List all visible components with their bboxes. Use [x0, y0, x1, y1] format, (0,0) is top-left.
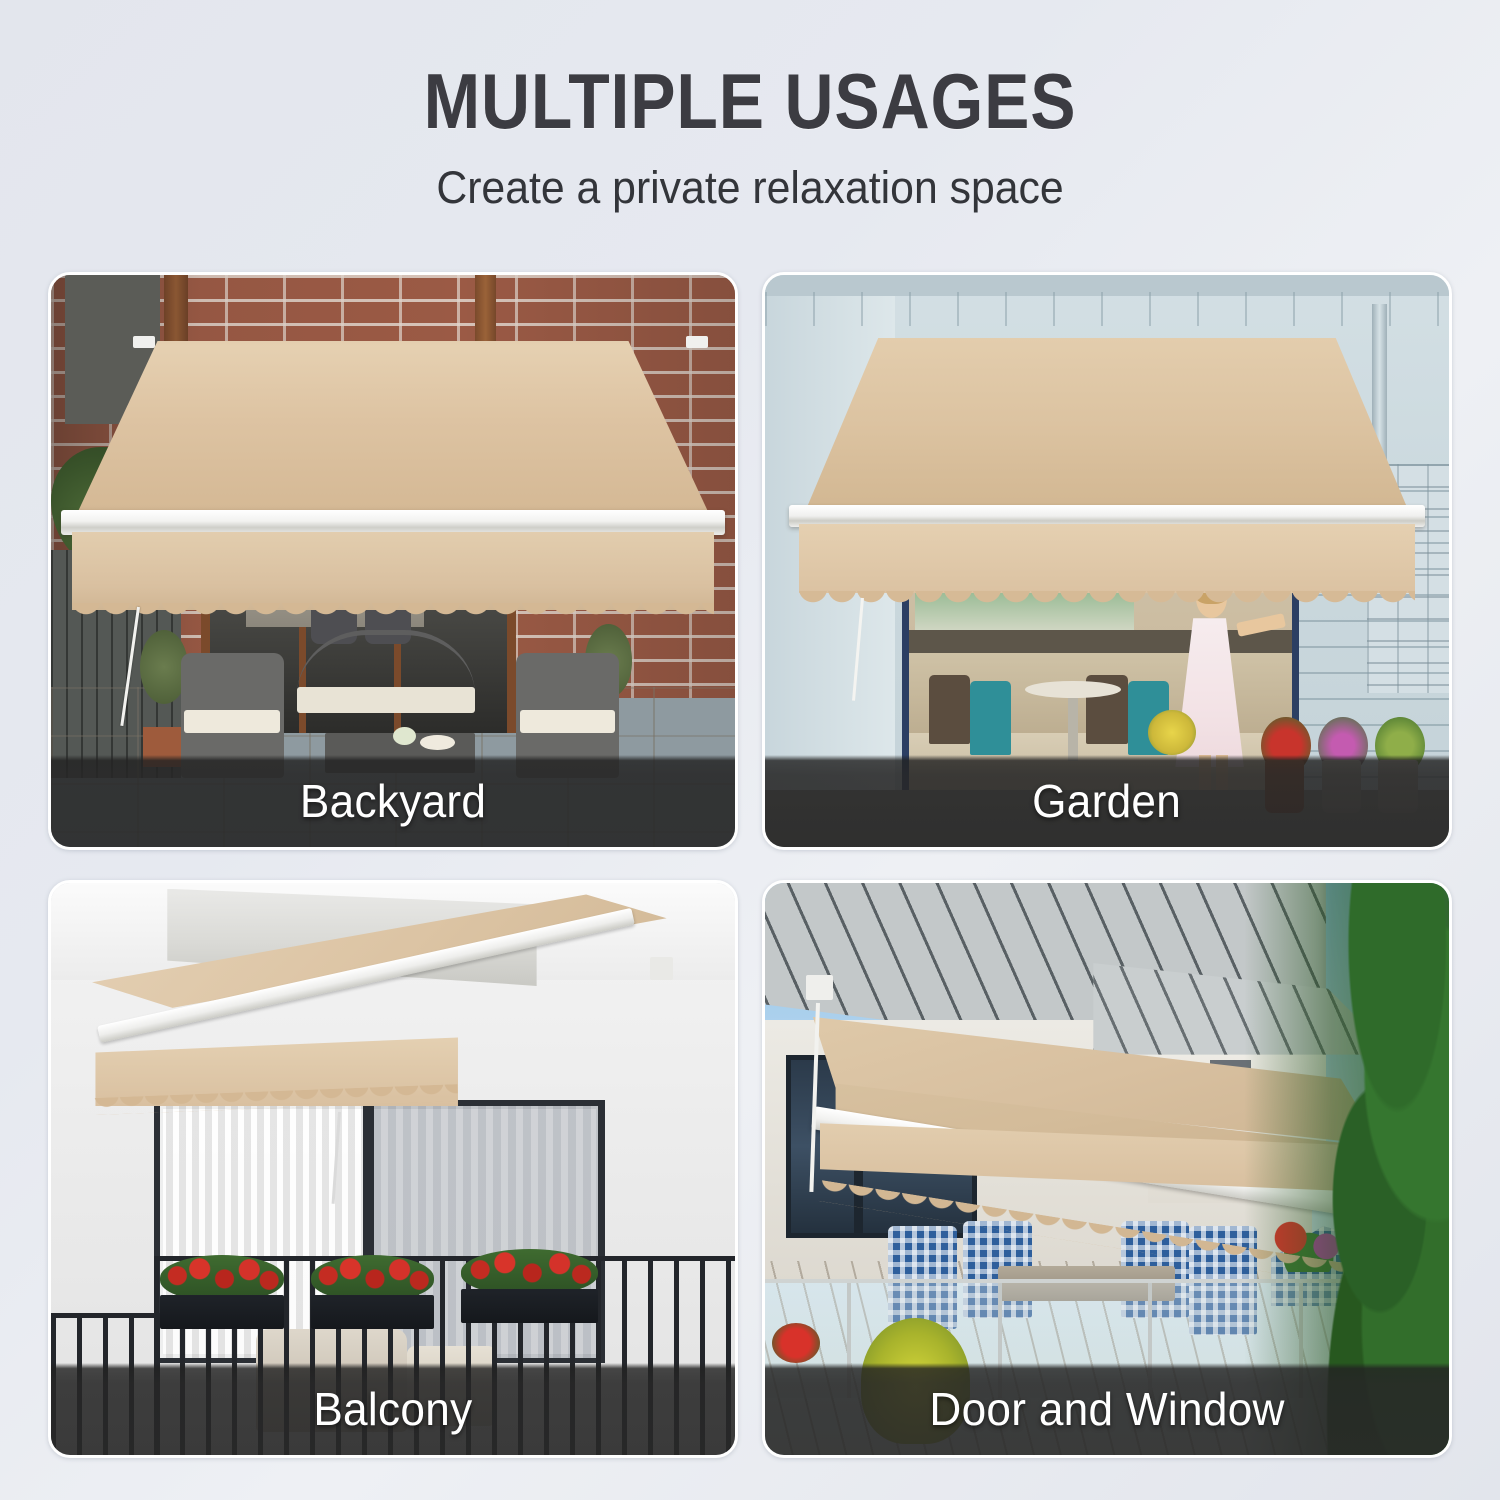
page-subtitle: Create a private relaxation space — [38, 140, 1463, 214]
usage-tile-grid: Backyard — [48, 272, 1452, 1458]
garden-scene-image — [765, 275, 1449, 847]
infographic-page: MULTIPLE USAGES Create a private relaxat… — [0, 0, 1500, 1500]
usage-tile-garden[interactable]: Garden — [762, 272, 1452, 850]
header: MULTIPLE USAGES Create a private relaxat… — [0, 0, 1500, 262]
usage-tile-backyard[interactable]: Backyard — [48, 272, 738, 850]
balcony-scene-image — [51, 883, 735, 1455]
usage-tile-balcony[interactable]: Balcony — [48, 880, 738, 1458]
backyard-scene-image — [51, 275, 735, 847]
usage-tile-door-and-window[interactable]: Door and Window — [762, 880, 1452, 1458]
awning-graphic — [51, 275, 735, 847]
door-and-window-scene-image — [765, 883, 1449, 1455]
page-title: MULTIPLE USAGES — [98, 0, 1403, 140]
